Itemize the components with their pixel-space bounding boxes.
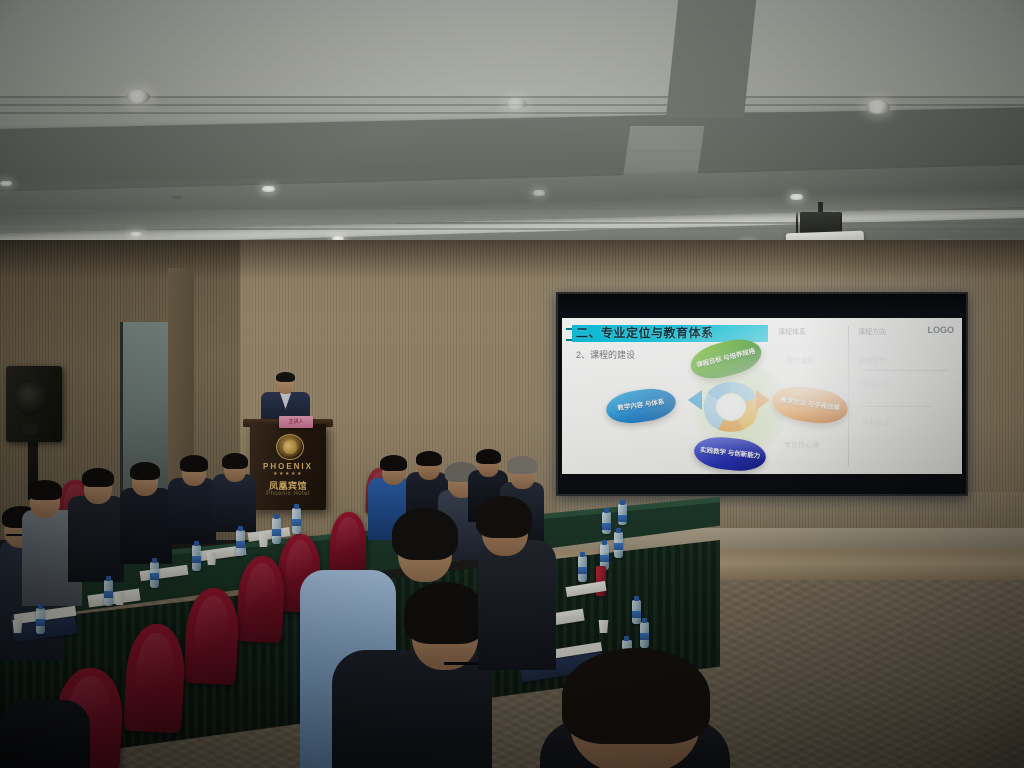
slide-subtitle: 2、课程的建设 — [576, 348, 635, 361]
water-bottle — [192, 545, 201, 571]
water-bottle — [618, 504, 627, 525]
slide-col-2-row-3: 毕业设计 — [862, 418, 890, 428]
downlight-3 — [866, 100, 890, 114]
slide-col-1-row-3: 专业核心课 — [784, 440, 819, 450]
podium-brand-text: PHOENIX — [252, 462, 324, 471]
attendee-hair — [28, 480, 62, 500]
speaker-cone-icon — [14, 382, 48, 416]
presenter-hair — [276, 372, 295, 382]
projection-screen: 二、专业定位与教育体系 2、课程的建设 课程目标 与培养规格 教学内容 与体系 … — [556, 292, 968, 496]
attendee-torso — [0, 700, 90, 768]
water-bottle — [36, 608, 45, 634]
downlight-2 — [505, 98, 527, 110]
slide-col-2-header: 课程方向 — [858, 327, 886, 337]
ceiling-vent-1 — [172, 196, 182, 201]
attendee-hair — [222, 453, 248, 469]
paper-cup — [12, 620, 23, 633]
downlight-4 — [0, 181, 12, 186]
cycle-arrow-left-icon — [688, 390, 702, 410]
downlight-6 — [533, 190, 545, 196]
attendee-torso — [168, 478, 216, 544]
presentation-slide: 二、专业定位与教育体系 2、课程的建设 课程目标 与培养规格 教学内容 与体系 … — [562, 318, 962, 474]
paper-cup — [206, 552, 217, 565]
water-bottle — [104, 580, 113, 606]
slide-rule-2 — [862, 406, 932, 407]
water-bottle — [150, 562, 159, 588]
slide-col-1-header: 课程体系 — [778, 327, 806, 337]
attendee-hair — [404, 582, 486, 644]
cycle-arrow-right-icon — [756, 390, 770, 410]
podium-nameplate-text: 主讲人 — [279, 418, 313, 425]
ceiling-drop-1 — [666, 0, 756, 118]
downlight-5 — [262, 186, 275, 192]
chair — [329, 511, 367, 578]
attendee-hair-gray — [507, 456, 537, 474]
water-bottle — [578, 556, 587, 582]
cycle-node-left: 教学内容 与体系 — [604, 385, 678, 426]
water-bottle — [272, 518, 281, 544]
water-bottle — [614, 532, 623, 558]
attendee-torso — [68, 496, 124, 582]
downlight-7 — [790, 194, 803, 200]
attendee-hair — [380, 455, 407, 471]
downlight-1 — [126, 90, 150, 104]
slide-logo: LOGO — [928, 325, 955, 335]
ceiling-trim-4 — [0, 150, 1024, 152]
attendee-hair — [416, 451, 442, 466]
attendee-hair — [82, 468, 114, 487]
ceiling-soffit-1 — [0, 0, 1024, 96]
slide-col-1-row-1: 理论课程 — [786, 356, 814, 366]
water-bottle — [640, 622, 649, 648]
attendee-torso — [212, 474, 256, 532]
water-bottle — [632, 600, 641, 624]
water-bottle — [602, 512, 611, 534]
water-bottle — [292, 508, 301, 534]
slide-col-2-row-2: 课程设计 — [862, 380, 890, 390]
attendee-hair — [130, 462, 160, 480]
attendee-torso — [478, 540, 556, 670]
attendee-hair — [476, 496, 532, 538]
attendee-hair — [476, 449, 501, 464]
slide-rule-1 — [862, 370, 948, 371]
screen-top-band — [558, 294, 966, 318]
wall-shadow — [0, 240, 1024, 280]
slide-col-1-row-2: 专业基础课 — [784, 396, 819, 406]
slide-col-2-row-1: 实践环节 — [858, 356, 886, 366]
attendee-torso — [332, 650, 492, 768]
water-bottle — [236, 530, 245, 556]
paper-cup — [258, 534, 269, 547]
paper-cup — [598, 620, 609, 633]
attendee-hair — [562, 648, 710, 744]
paper-cup — [114, 592, 125, 605]
podium-star-rating: ★★★★★ — [252, 471, 324, 477]
podium-pinyin: Phoenix Hotel — [252, 491, 324, 497]
speaker-tweeter-icon — [22, 424, 38, 434]
cycle-center — [716, 394, 746, 420]
smartart-cycle-diagram: 课程目标 与培养规格 教学内容 与体系 教学方法 与手段改革 实践教学 与创新能… — [658, 346, 794, 470]
slide-column-divider — [848, 326, 849, 466]
downlight-8 — [130, 232, 142, 237]
attendee-hair — [180, 455, 208, 472]
attendee-hair — [392, 508, 458, 560]
attendee-torso — [120, 488, 172, 564]
conference-room-photo: 二、专业定位与教育体系 2、课程的建设 课程目标 与培养规格 教学内容 与体系 … — [0, 0, 1024, 768]
